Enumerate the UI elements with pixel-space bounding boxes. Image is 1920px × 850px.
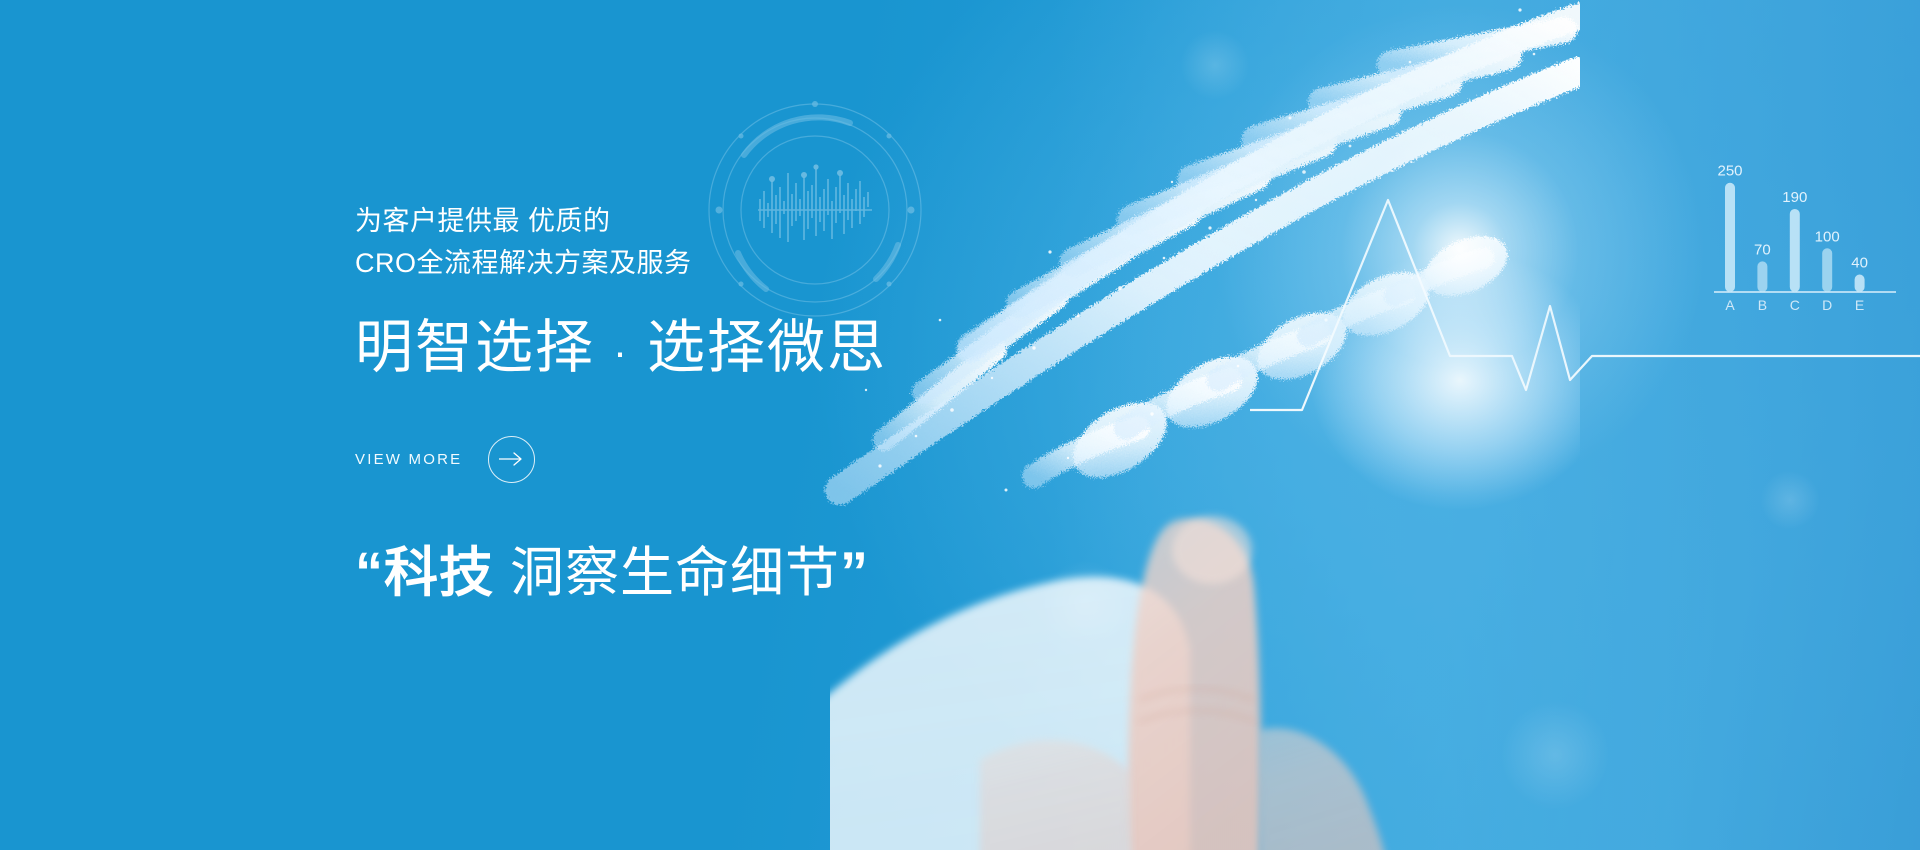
hero-subtitle-line-1: 为客户提供最 优质的: [355, 200, 1075, 242]
hero-quote: “科技 洞察生命细节”: [355, 537, 1075, 608]
hero-banner: 250A70B190C100D40E 为客户提供最 优质的 CRO全流程解决方案…: [0, 0, 1920, 850]
chart-bar: [1725, 183, 1735, 292]
view-more-button[interactable]: VIEW MORE: [355, 436, 530, 483]
view-more-label: VIEW MORE: [355, 451, 462, 468]
chart-category-label: D: [1822, 297, 1832, 313]
hero-copy: 为客户提供最 优质的 CRO全流程解决方案及服务 明智选择·选择微思 VIEW …: [355, 200, 1075, 608]
quote-light-text: 洞察生命细节: [494, 543, 840, 603]
quote-open: “: [355, 540, 384, 603]
headline-separator: ·: [595, 328, 647, 375]
chart-value-label: 40: [1851, 255, 1868, 272]
arrow-right-icon[interactable]: [488, 436, 535, 483]
chart-bar: [1855, 275, 1865, 292]
chart-value-label: 190: [1782, 189, 1807, 206]
quote-bold-text: 科技: [384, 543, 494, 603]
chart-bar: [1757, 261, 1767, 292]
chart-category-label: E: [1855, 297, 1864, 313]
chart-category-label: C: [1790, 297, 1800, 313]
chart-category-label: A: [1725, 297, 1735, 313]
chart-bar: [1822, 248, 1832, 292]
headline-part-2: 选择微思: [647, 315, 887, 380]
chart-category-label: B: [1758, 297, 1767, 313]
hero-subtitle-line-2: CRO全流程解决方案及服务: [355, 242, 1075, 284]
chart-value-label: 70: [1754, 241, 1771, 258]
quote-close: ”: [840, 540, 869, 603]
chart-value-label: 100: [1815, 228, 1840, 245]
chart-value-label: 250: [1717, 163, 1742, 180]
chart-bar: [1790, 209, 1800, 292]
page-title: 明智选择·选择微思: [355, 312, 1075, 388]
headline-part-1: 明智选择: [355, 315, 595, 380]
mini-bar-chart: 250A70B190C100D40E: [1700, 150, 1910, 330]
